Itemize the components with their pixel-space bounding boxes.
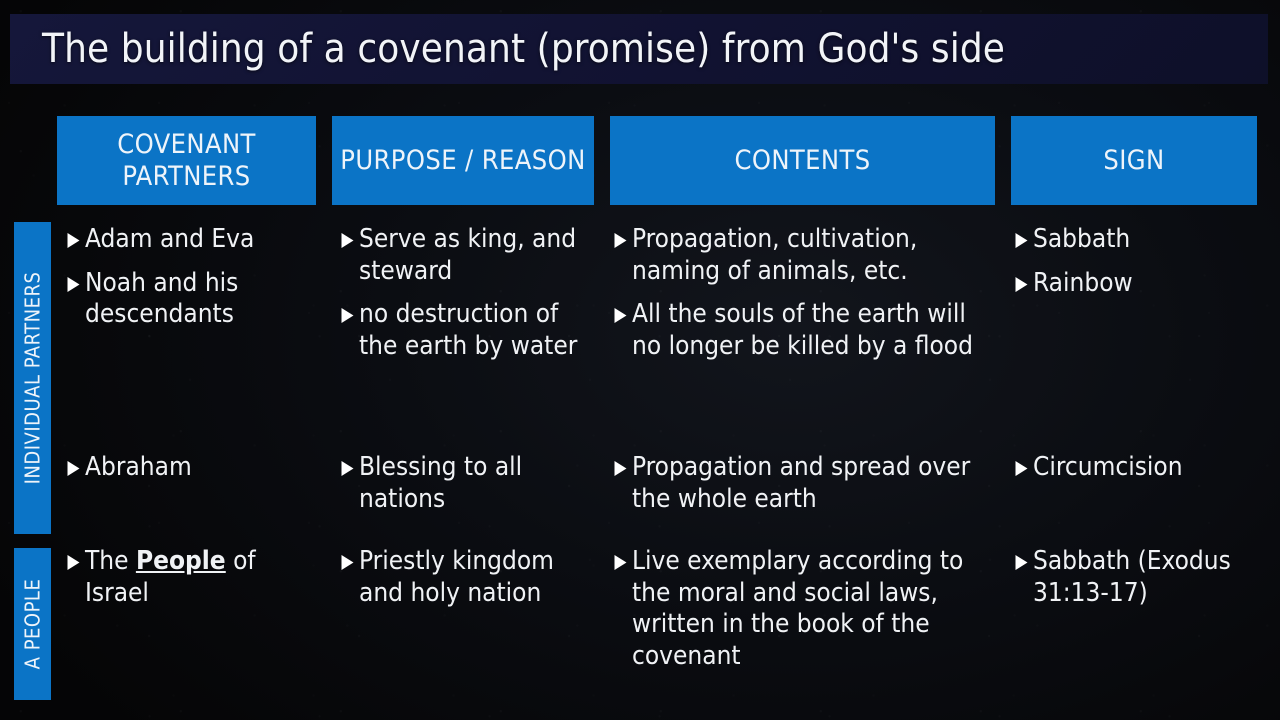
triangle-right-icon [1014,277,1031,292]
cell-row2-sign: Circumcision [1014,452,1264,496]
triangle-right-icon [66,555,83,570]
list-item-label: Rainbow [1033,268,1264,300]
cell-row3-contents: Live exemplary according to the moral an… [613,546,995,685]
triangle-right-icon [1014,461,1031,476]
list-item: Live exemplary according to the moral an… [613,546,995,673]
column-header-sign: SIGN [1011,116,1257,205]
triangle-right-icon [66,233,83,248]
list-item-label: Abraham [85,452,316,484]
page-title: The building of a covenant (promise) fro… [10,29,1005,69]
cell-row3-partners: The People of Israel [66,546,316,621]
list-item-label: Blessing to all nations [359,452,594,515]
list-item-label: Sabbath [1033,224,1264,256]
list-item: Propagation and spread over the whole ea… [613,452,995,515]
cell-row2-contents: Propagation and spread over the whole ea… [613,452,995,527]
list-item: Abraham [66,452,316,484]
column-header-label: PURPOSE / REASON [340,145,585,177]
cell-row1-contents: Propagation, cultivation, naming of anim… [613,224,995,375]
row-label-text: INDIVIDUAL PARTNERS [23,272,43,485]
triangle-right-icon [1014,555,1031,570]
column-header-label: CONTENTS [734,145,870,177]
row-label-text: A PEOPLE [23,579,43,670]
triangle-right-icon [66,461,83,476]
cell-row2-purpose: Blessing to all nations [340,452,594,527]
list-item-label: Adam and Eva [85,224,316,256]
triangle-right-icon [340,233,357,248]
list-item: no destruction of the earth by water [340,299,594,362]
cell-row3-purpose: Priestly kingdom and holy nation [340,546,594,621]
cell-row1-partners: Adam and EvaNoah and his descendants [66,224,316,343]
list-item-label: Live exemplary according to the moral an… [632,546,995,673]
triangle-right-icon [66,277,83,292]
list-item: Serve as king, and steward [340,224,594,287]
list-item: Sabbath [1014,224,1264,256]
column-header-label: COVENANT PARTNERS [63,129,310,193]
cell-row2-partners: Abraham [66,452,316,496]
list-item-label: All the souls of the earth will no longe… [632,299,995,362]
column-header-contents: CONTENTS [610,116,995,205]
triangle-right-icon [613,233,630,248]
list-item-label: Propagation, cultivation, naming of anim… [632,224,995,287]
list-item-label: Sabbath (Exodus 31:13-17) [1033,546,1274,609]
column-header-label: SIGN [1103,145,1164,177]
triangle-right-icon [613,461,630,476]
triangle-right-icon [613,308,630,323]
row-label-a-people: A PEOPLE [14,548,51,700]
triangle-right-icon [340,461,357,476]
triangle-right-icon [340,308,357,323]
list-item-label: Circumcision [1033,452,1264,484]
list-item: The People of Israel [66,546,316,609]
row-label-individual-partners: INDIVIDUAL PARTNERS [14,222,51,534]
list-item-label: Priestly kingdom and holy nation [359,546,594,609]
triangle-right-icon [613,555,630,570]
list-item: Circumcision [1014,452,1264,484]
title-bar: The building of a covenant (promise) fro… [10,14,1268,84]
list-item-label: no destruction of the earth by water [359,299,594,362]
list-item: Adam and Eva [66,224,316,256]
list-item: Priestly kingdom and holy nation [340,546,594,609]
list-item: Propagation, cultivation, naming of anim… [613,224,995,287]
cell-row1-purpose: Serve as king, and stewardno destruction… [340,224,594,375]
column-header-purpose-reason: PURPOSE / REASON [332,116,594,205]
cell-row3-sign: Sabbath (Exodus 31:13-17) [1014,546,1274,621]
list-item: Blessing to all nations [340,452,594,515]
triangle-right-icon [1014,233,1031,248]
list-item-label: The People of Israel [85,546,316,609]
list-item-label: Serve as king, and steward [359,224,594,287]
slide-canvas: The building of a covenant (promise) fro… [0,0,1280,720]
triangle-right-icon [340,555,357,570]
list-item: Rainbow [1014,268,1264,300]
cell-row1-sign: SabbathRainbow [1014,224,1264,311]
column-header-covenant-partners: COVENANT PARTNERS [57,116,316,205]
list-item: All the souls of the earth will no longe… [613,299,995,362]
list-item-label: Noah and his descendants [85,268,316,331]
list-item: Noah and his descendants [66,268,316,331]
list-item: Sabbath (Exodus 31:13-17) [1014,546,1274,609]
list-item-label: Propagation and spread over the whole ea… [632,452,995,515]
